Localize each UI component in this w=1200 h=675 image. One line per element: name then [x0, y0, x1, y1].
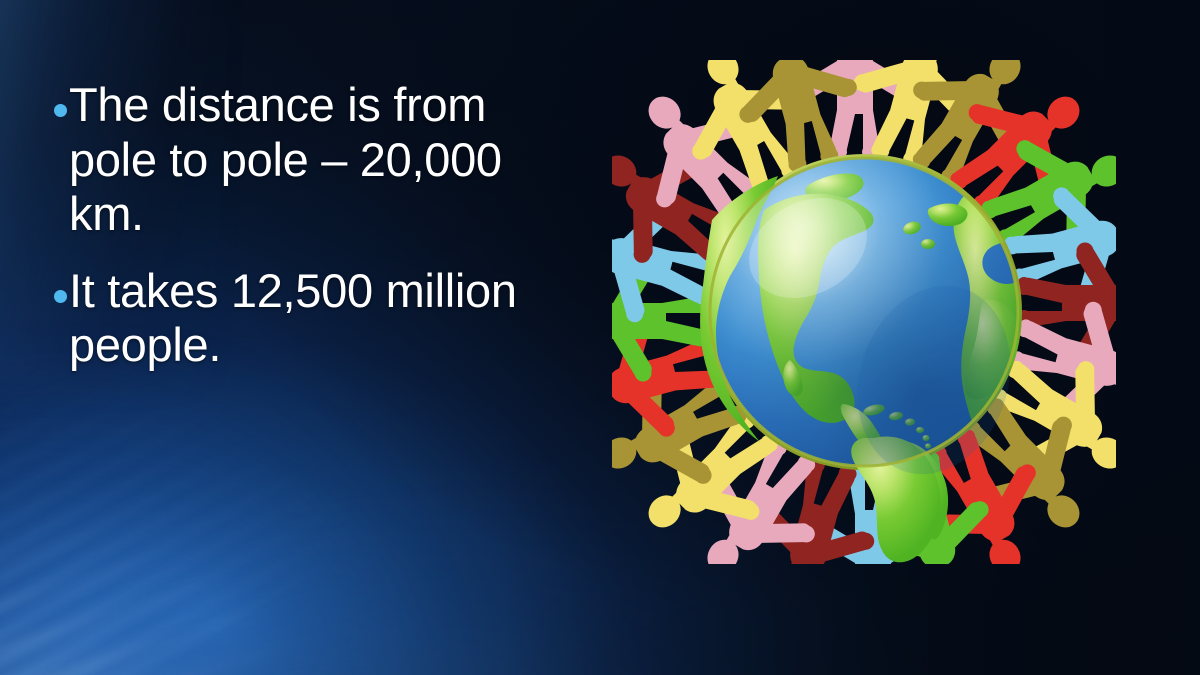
globe-people-illustration: [612, 60, 1116, 564]
bullet-item-2: It takes 12,500 million people.: [54, 264, 524, 373]
bullet-text-2: It takes 12,500 million people.: [69, 264, 524, 373]
bullet-text-1: The distance is from pole to pole – 20,0…: [69, 78, 524, 242]
bullet-dot-icon: [54, 290, 67, 303]
bullet-dot-icon: [54, 104, 67, 117]
bullet-item-1: The distance is from pole to pole – 20,0…: [54, 78, 524, 242]
slide-body-text: The distance is from pole to pole – 20,0…: [54, 78, 524, 395]
presentation-slide: The distance is from pole to pole – 20,0…: [0, 0, 1200, 675]
